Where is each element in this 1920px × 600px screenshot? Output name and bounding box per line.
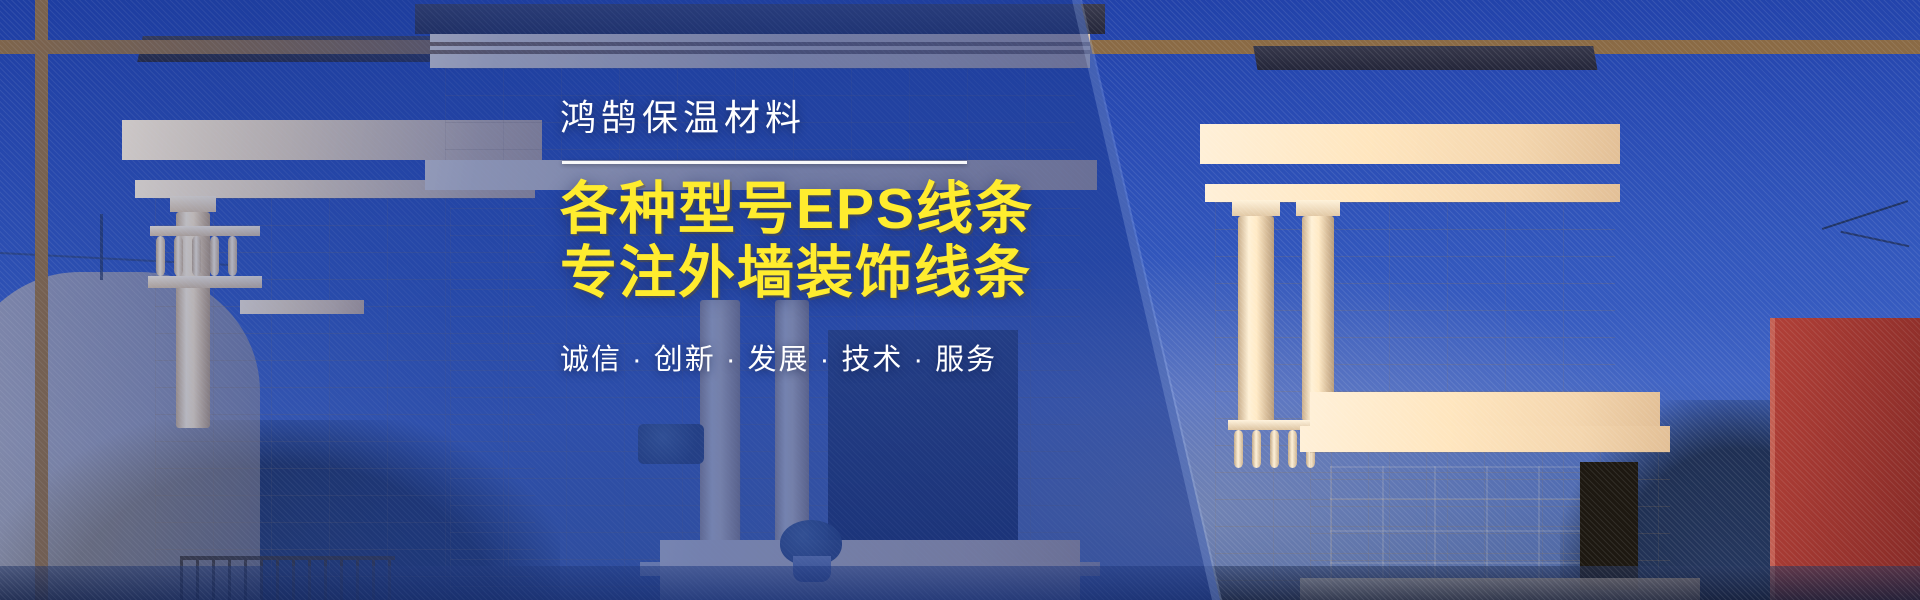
garage-parapet xyxy=(1310,392,1660,426)
right-wing-roof xyxy=(1253,42,1598,70)
right-column-capital-a xyxy=(1232,200,1280,216)
headline-line-1: 各种型号EPS线条 xyxy=(560,178,1200,242)
brand-name: 鸿鹄保温材料 xyxy=(560,96,1200,139)
right-column-a xyxy=(1238,216,1274,426)
right-wing-cornice xyxy=(1200,124,1620,164)
right-column-b xyxy=(1302,216,1334,421)
red-wall-edge-highlight xyxy=(1770,318,1775,600)
right-wing-dentils xyxy=(1225,164,1565,184)
promo-banner: 鸿鹄保温材料 各种型号EPS线条 专注外墙装饰线条 诚信 · 创新 · 发展 ·… xyxy=(0,0,1920,600)
banner-text-block: 鸿鹄保温材料 各种型号EPS线条 专注外墙装饰线条 诚信 · 创新 · 发展 ·… xyxy=(560,96,1200,378)
title-divider xyxy=(562,161,967,164)
headline-line-2: 专注外墙装饰线条 xyxy=(560,242,1200,306)
tagline: 诚信 · 创新 · 发展 · 技术 · 服务 xyxy=(560,336,1200,378)
garage-lintel xyxy=(1300,426,1670,452)
right-column-capital-b xyxy=(1296,200,1340,216)
red-wall-panel xyxy=(1770,318,1920,600)
